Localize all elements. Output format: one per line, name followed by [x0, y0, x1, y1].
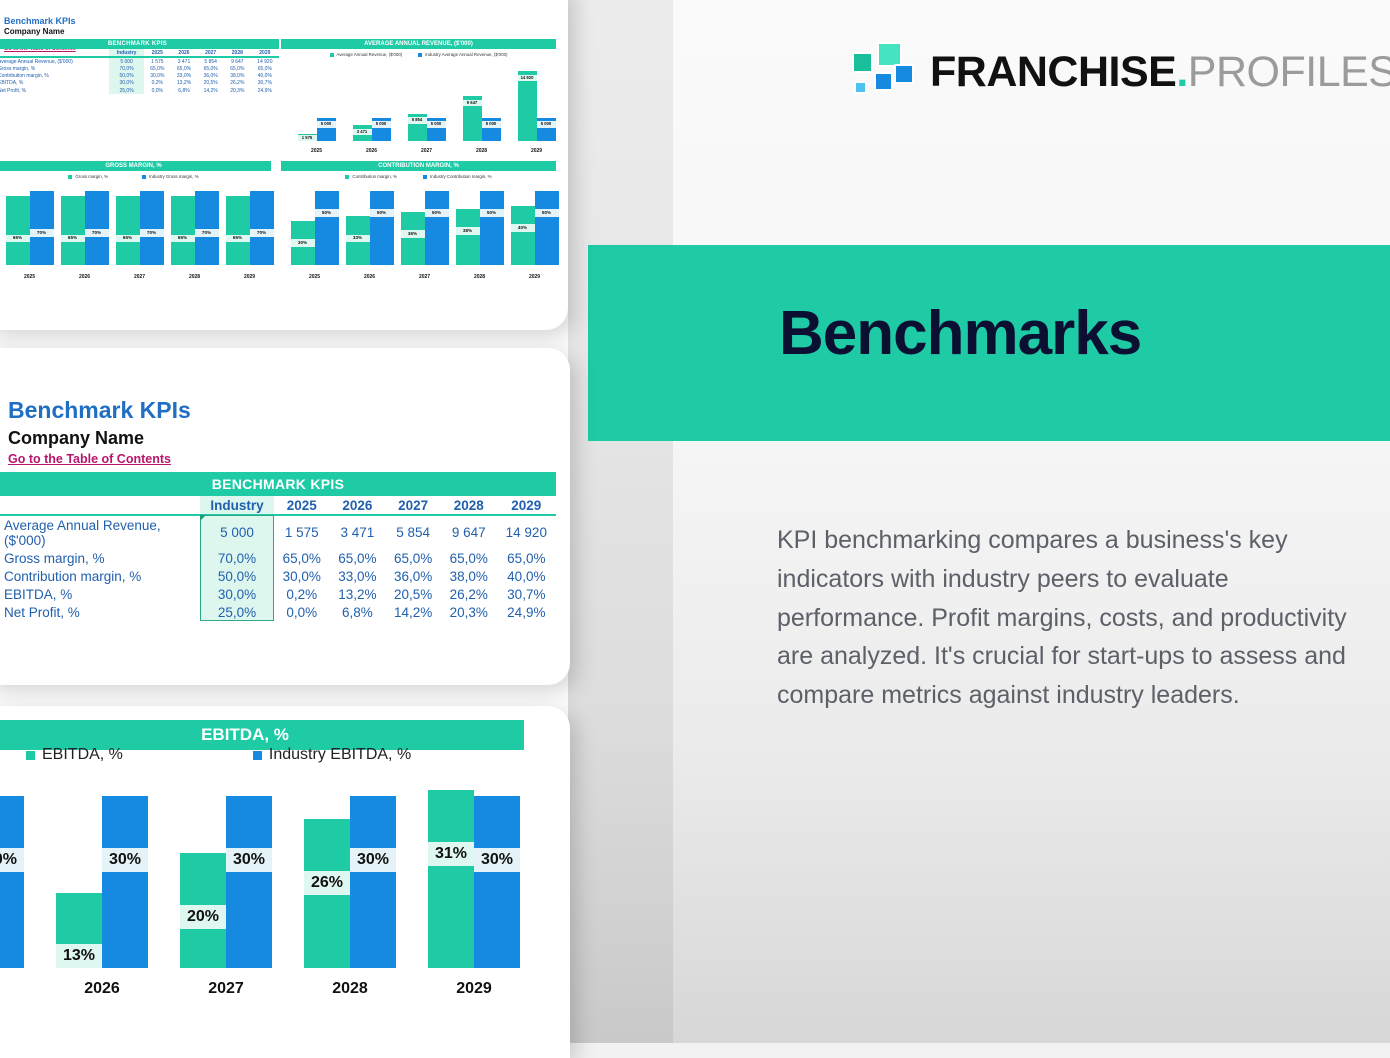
chart-data-label: 26%	[304, 871, 350, 895]
chart-data-label: 50%	[315, 209, 339, 217]
kpi-row-label: EBITDA, %	[0, 585, 200, 603]
kpi-cell: 65,0%	[171, 65, 198, 72]
kpi-cell: 24,9%	[251, 87, 279, 94]
kpi-cell: 1 575	[274, 515, 330, 549]
chart-x-tick-label: 2026	[342, 274, 397, 280]
kpi-cell: 65,0%	[274, 549, 330, 567]
legend-item-contribution-industry-small: Industry Contribution margin, %	[423, 174, 492, 179]
kpi-cell: 30,7%	[497, 585, 556, 603]
chart-data-label: 70%	[85, 229, 109, 237]
kpi-cell: 3 471	[171, 57, 198, 65]
kpi-cell: 5 000	[200, 515, 274, 549]
kpi-cell: 65,0%	[144, 65, 171, 72]
kpi-cell: 24,9%	[497, 603, 556, 621]
kpi-row-label: Average Annual Revenue, ($'000)	[0, 515, 200, 549]
chart-data-label: 70%	[250, 229, 274, 237]
kpi-row-label: Average Annual Revenue, ($'000)	[0, 57, 109, 65]
franchise-profiles-mark-icon	[852, 42, 914, 102]
chart-bar	[518, 71, 537, 141]
chart-data-label: 3 471	[353, 129, 372, 135]
kpi-cell: 9 647	[441, 515, 497, 549]
kpi-cell: 0,0%	[144, 87, 171, 94]
thumbnail-card-overview[interactable]: Benchmark KPIs Company Name Go to the Ta…	[0, 0, 568, 330]
chart-data-label: 70%	[195, 229, 219, 237]
chart-data-label: 30%	[474, 848, 520, 872]
chart-data-label: 50%	[480, 209, 504, 217]
kpi-cell: 70,0%	[109, 65, 144, 72]
chart-x-tick-label: 2027	[112, 274, 167, 280]
chart-bar	[195, 191, 219, 265]
kpi-cell: 30,7%	[251, 80, 279, 87]
cell-fill-handle-icon	[200, 515, 206, 521]
legend-item-revenue-industry-small: Industry Average Annual Revenue, ($'000)	[418, 52, 507, 57]
chart-data-label: 70%	[30, 229, 54, 237]
kpi-cell: 5 854	[197, 57, 224, 65]
chart-bar	[226, 196, 250, 265]
chart-x-tick-label: 2025	[287, 274, 342, 280]
chart-card-contribution-small: CONTRIBUTION MARGIN, % Contribution marg…	[281, 161, 556, 296]
kpi-col-header: 2028	[224, 49, 251, 57]
table-row: Net Profit, %25,0%0,0%6,8%14,2%20,3%24,9…	[0, 87, 279, 94]
chart-bar	[85, 191, 109, 265]
chart-data-label: 30%	[102, 848, 148, 872]
chart-card-gross-small: GROSS MARGIN, % Gross margin, % Industry…	[0, 161, 271, 296]
kpi-cell: 38,0%	[441, 567, 497, 585]
background-band-middle	[568, 0, 673, 1043]
chart-bar	[511, 206, 535, 265]
chart-plot-ebitda: 0%30%202513%30%202620%30%202726%30%20283…	[0, 778, 536, 1000]
kpi-cell: 40,0%	[251, 73, 279, 80]
chart-data-label: 9 647	[463, 100, 482, 106]
kpi-col-header: 2026	[330, 496, 386, 515]
chart-x-tick-label: 2025	[289, 148, 344, 154]
kpi-cell: 50,0%	[200, 567, 274, 585]
chart-x-tick-label: 2028	[288, 980, 412, 998]
logo-text-dot: .	[1176, 48, 1187, 96]
kpi-col-header: Industry	[109, 49, 144, 57]
chart-bar	[425, 191, 449, 265]
chart-data-label: 30%	[291, 239, 315, 247]
chart-data-label: 40%	[511, 224, 535, 232]
chart-data-label: 65%	[6, 235, 30, 243]
chart-x-tick-label: 2028	[452, 274, 507, 280]
chart-data-label: 1 575	[298, 135, 317, 141]
kpi-cell: 65,0%	[497, 549, 556, 567]
chart-plot-gross-small: 65%70%202565%70%202665%70%202765%70%2028…	[0, 183, 271, 281]
kpi-cell: 30,0%	[274, 567, 330, 585]
chart-data-label: 5 000	[317, 121, 336, 127]
chart-data-label: 65%	[171, 235, 195, 243]
chart-bar	[370, 191, 394, 265]
chart-x-tick-label: 2028	[454, 148, 509, 154]
kpi-cell: 25,0%	[109, 87, 144, 94]
kpi-col-header: 2025	[274, 496, 330, 515]
chart-plot-contribution-small: 30%50%202533%50%202636%50%202738%50%2028…	[281, 183, 556, 281]
kpi-col-header: 2025	[144, 49, 171, 57]
chart-data-label: 50%	[535, 209, 559, 217]
table-row: Gross margin, %70,0%65,0%65,0%65,0%65,0%…	[0, 549, 556, 567]
legend-item-ebitda-company: EBITDA, %	[26, 746, 123, 764]
kpi-row-label: Contribution margin, %	[0, 73, 109, 80]
kpi-cell: 20,3%	[224, 87, 251, 94]
legend-item-gross-industry-small: Industry Gross margin, %	[142, 174, 199, 179]
kpi-col-header: 2029	[251, 49, 279, 57]
chart-bar	[171, 196, 195, 265]
chart-data-label: 50%	[370, 209, 394, 217]
chart-bar	[350, 796, 396, 968]
chart-data-label: 33%	[346, 235, 370, 243]
kpi-cell: 65,0%	[330, 549, 386, 567]
kpi-cell: 65,0%	[251, 65, 279, 72]
kpi-table: Industry20252026202720282029Average Annu…	[0, 496, 556, 621]
table-row: Average Annual Revenue, ($'000)5 0001 57…	[0, 515, 556, 549]
kpi-cell: 9 647	[224, 57, 251, 65]
kpi-cell: 30,0%	[109, 80, 144, 87]
logo-text-franchise: FRANCHISE	[930, 48, 1176, 96]
chart-x-tick-label: 2029	[222, 274, 277, 280]
chart-data-label: 31%	[428, 842, 474, 866]
kpi-cell: 26,2%	[224, 80, 251, 87]
chart-x-tick-label: 2026	[344, 148, 399, 154]
chart-bar	[480, 191, 504, 265]
kpi-cell: 14 920	[251, 57, 279, 65]
chart-data-label: 70%	[140, 229, 164, 237]
chart-x-tick-label: 2027	[397, 274, 452, 280]
chart-bar	[226, 796, 272, 968]
kpi-col-header: 2026	[171, 49, 198, 57]
chart-data-label: 5 000	[537, 121, 556, 127]
chart-x-tick-label: 2029	[412, 980, 536, 998]
kpi-cell: 5 854	[385, 515, 441, 549]
kpi-cell: 0,0%	[274, 603, 330, 621]
table-banner: BENCHMARK KPIS	[0, 472, 556, 496]
chart-x-tick-label: 2027	[164, 980, 288, 998]
kpi-cell: 1 575	[144, 57, 171, 65]
kpi-cell: 14,2%	[385, 603, 441, 621]
chart-x-tick-label: 2029	[507, 274, 562, 280]
chart-bar	[102, 796, 148, 968]
kpi-cell: 65,0%	[385, 549, 441, 567]
chart-bar	[401, 212, 425, 265]
kpi-cell: 40,0%	[497, 567, 556, 585]
kpi-cell: 0,2%	[144, 80, 171, 87]
chart-bar	[456, 209, 480, 265]
chart-x-tick-label: 2025	[0, 980, 40, 998]
chart-bar	[0, 796, 24, 968]
kpi-row-label: Contribution margin, %	[0, 567, 200, 585]
chart-bar	[474, 796, 520, 968]
kpi-cell: 33,0%	[330, 567, 386, 585]
table-row: EBITDA, %30,0%0,2%13,2%20,5%26,2%30,7%	[0, 80, 279, 87]
chart-bar	[61, 196, 85, 265]
chart-bar	[6, 196, 30, 265]
chart-data-label: 65%	[61, 235, 85, 243]
legend-item-contribution-company-small: Contribution margin, %	[345, 174, 397, 179]
chart-data-label: 5 000	[482, 121, 501, 127]
kpi-cell: 13,2%	[171, 80, 198, 87]
chart-data-label: 13%	[56, 944, 102, 968]
chart-data-label: 5 854	[408, 117, 427, 123]
chart-data-label: 38%	[456, 227, 480, 235]
chart-card-revenue-small: AVERAGE ANNUAL REVENUE, ($'000) Average …	[281, 39, 556, 167]
legend-item-gross-company-small: Gross margin, %	[68, 174, 108, 179]
kpi-col-header: 2028	[441, 496, 497, 515]
logo-text-profiles: PROFILES	[1188, 48, 1390, 96]
kpi-cell: 70,0%	[200, 549, 274, 567]
table-row: Contribution margin, %50,0%30,0%33,0%36,…	[0, 567, 556, 585]
chart-bar	[250, 191, 274, 265]
chart-bar	[428, 790, 474, 968]
kpi-row-label: EBITDA, %	[0, 80, 109, 87]
table-row: Average Annual Revenue, ($'000)5 0001 57…	[0, 57, 279, 65]
chart-title-contribution-small: CONTRIBUTION MARGIN, %	[281, 161, 556, 171]
kpi-cell: 14,2%	[197, 87, 224, 94]
kpi-cell: 65,0%	[197, 65, 224, 72]
chart-data-label: 36%	[401, 230, 425, 238]
table-row: Net Profit, %25,0%0,0%6,8%14,2%20,3%24,9…	[0, 603, 556, 621]
chart-data-label: 65%	[226, 235, 250, 243]
chart-data-label: 65%	[116, 235, 140, 243]
chart-x-tick-label: 2029	[509, 148, 564, 154]
toc-link[interactable]: Go to the Table of Contents	[8, 450, 171, 469]
chart-data-label: 20%	[180, 905, 226, 929]
chart-x-tick-label: 2025	[2, 274, 57, 280]
kpi-cell: 33,0%	[171, 73, 198, 80]
legend-item-ebitda-industry: Industry EBITDA, %	[253, 746, 411, 764]
sheet-subtitle-small: Company Name	[4, 27, 76, 37]
chart-title-revenue-small: AVERAGE ANNUAL REVENUE, ($'000)	[281, 39, 556, 49]
table-row: Gross margin, %70,0%65,0%65,0%65,0%65,0%…	[0, 65, 279, 72]
page-description: KPI benchmarking compares a business's k…	[777, 521, 1365, 715]
chart-data-label: 5 000	[427, 121, 446, 127]
detail-card-kpi-table[interactable]: Benchmark KPIs Company Name Go to the Ta…	[0, 348, 570, 685]
chart-data-label: 50%	[425, 209, 449, 217]
kpi-col-header: Industry	[200, 496, 274, 515]
kpi-cell: 65,0%	[441, 549, 497, 567]
chart-x-tick-label: 2027	[399, 148, 454, 154]
kpi-cell: 20,5%	[385, 585, 441, 603]
kpi-cell: 30,0%	[144, 73, 171, 80]
kpi-row-label: Gross margin, %	[0, 65, 109, 72]
kpi-cell: 3 471	[330, 515, 386, 549]
kpi-cell: 26,2%	[441, 585, 497, 603]
page-title: Benchmarks	[779, 303, 1141, 365]
kpi-cell: 36,0%	[197, 73, 224, 80]
brand-wordmark: FRANCHISE.PROFILES	[930, 51, 1390, 94]
kpi-col-header: 2027	[197, 49, 224, 57]
kpi-row-label: Gross margin, %	[0, 549, 200, 567]
chart-x-tick-label: 2026	[57, 274, 112, 280]
chart-x-tick-label: 2028	[167, 274, 222, 280]
legend-item-revenue-company-small: Average Annual Revenue, ($'000)	[330, 52, 403, 57]
kpi-cell: 5 000	[109, 57, 144, 65]
chart-plot-revenue-small: 1 5755 00020253 4715 00020265 8545 00020…	[281, 63, 556, 155]
chart-data-label: 14 920	[518, 75, 537, 81]
kpi-cell: 25,0%	[200, 603, 274, 621]
sheet-title: Benchmark KPIs	[8, 396, 191, 426]
table-row: Contribution margin, %50,0%30,0%33,0%36,…	[0, 73, 279, 80]
detail-card-ebitda-chart[interactable]: EBITDA, % EBITDA, % Industry EBITDA, % 0…	[0, 706, 570, 1058]
kpi-table-small: Industry20252026202720282029Average Annu…	[0, 49, 279, 94]
chart-bar	[116, 196, 140, 265]
sheet-title-small: Benchmark KPIs	[4, 16, 76, 27]
chart-data-label: 30%	[350, 848, 396, 872]
kpi-col-header: 2027	[385, 496, 441, 515]
kpi-cell: 0,2%	[274, 585, 330, 603]
kpi-cell: 30,0%	[200, 585, 274, 603]
kpi-cell: 13,2%	[330, 585, 386, 603]
chart-bar	[315, 191, 339, 265]
chart-data-label: 30%	[226, 848, 272, 872]
chart-bar	[535, 191, 559, 265]
table-row: EBITDA, %30,0%0,2%13,2%20,5%26,2%30,7%	[0, 585, 556, 603]
chart-data-label: 5 000	[372, 121, 391, 127]
chart-bar	[140, 191, 164, 265]
kpi-cell: 14 920	[497, 515, 556, 549]
kpi-cell: 20,5%	[197, 80, 224, 87]
chart-bar	[30, 191, 54, 265]
sheet-subtitle: Company Name	[8, 426, 191, 450]
kpi-row-label: Net Profit, %	[0, 87, 109, 94]
kpi-row-label: Net Profit, %	[0, 603, 200, 621]
chart-x-tick-label: 2026	[40, 980, 164, 998]
brand-logo: FRANCHISE.PROFILES	[852, 42, 1390, 102]
kpi-cell: 6,8%	[171, 87, 198, 94]
kpi-cell: 38,0%	[224, 73, 251, 80]
kpi-cell: 65,0%	[224, 65, 251, 72]
kpi-col-header: 2029	[497, 496, 556, 515]
table-banner-small: BENCHMARK KPIS	[0, 39, 279, 49]
kpi-cell: 50,0%	[109, 73, 144, 80]
kpi-cell: 20,3%	[441, 603, 497, 621]
kpi-cell: 36,0%	[385, 567, 441, 585]
chart-data-label: 30%	[0, 848, 24, 872]
kpi-cell: 6,8%	[330, 603, 386, 621]
chart-title-gross-small: GROSS MARGIN, %	[0, 161, 271, 171]
